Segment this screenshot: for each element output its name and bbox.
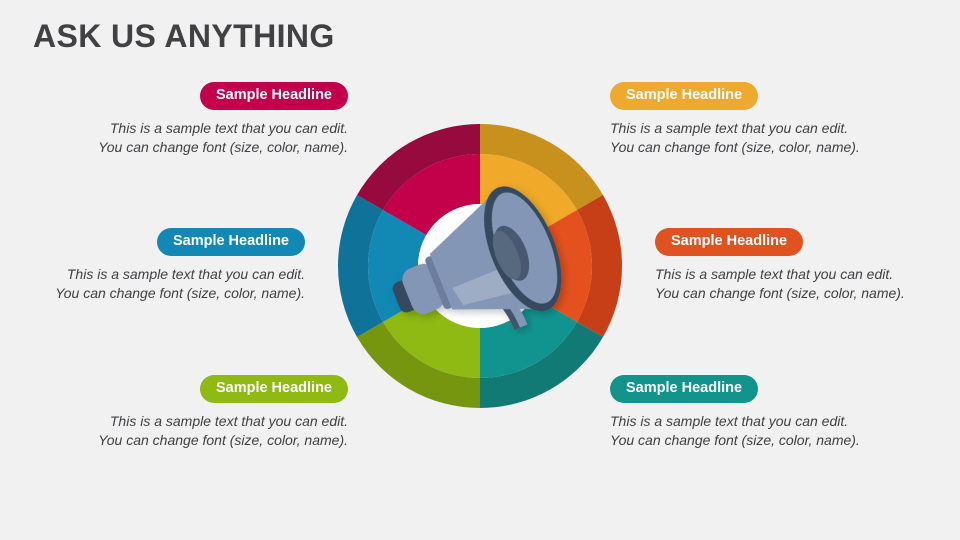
six-segment-donut-wheel[interactable] (338, 124, 622, 408)
headline-badge-green[interactable]: Sample Headline (200, 375, 348, 403)
info-item-crimson[interactable]: Sample Headline This is a sample text th… (98, 82, 348, 158)
headline-badge-blue[interactable]: Sample Headline (157, 228, 305, 256)
body-text-green: This is a sample text that you can edit.… (98, 412, 348, 452)
info-item-orange[interactable]: Sample Headline This is a sample text th… (655, 228, 905, 304)
body-text-teal: This is a sample text that you can edit.… (610, 412, 860, 452)
body-text-gold: This is a sample text that you can edit.… (610, 119, 860, 159)
body-text-crimson: This is a sample text that you can edit.… (98, 119, 348, 159)
info-item-gold[interactable]: Sample Headline This is a sample text th… (610, 82, 860, 158)
info-item-teal[interactable]: Sample Headline This is a sample text th… (610, 375, 860, 451)
info-item-green[interactable]: Sample Headline This is a sample text th… (98, 375, 348, 451)
page-title: ASK US ANYTHING (33, 18, 335, 55)
headline-badge-gold[interactable]: Sample Headline (610, 82, 758, 110)
body-text-blue: This is a sample text that you can edit.… (55, 265, 305, 305)
info-item-blue[interactable]: Sample Headline This is a sample text th… (55, 228, 305, 304)
slide-canvas: ASK US ANYTHING Sample Headline This is … (0, 0, 960, 540)
body-text-orange: This is a sample text that you can edit.… (655, 265, 905, 305)
headline-badge-crimson[interactable]: Sample Headline (200, 82, 348, 110)
headline-badge-teal[interactable]: Sample Headline (610, 375, 758, 403)
headline-badge-orange[interactable]: Sample Headline (655, 228, 803, 256)
